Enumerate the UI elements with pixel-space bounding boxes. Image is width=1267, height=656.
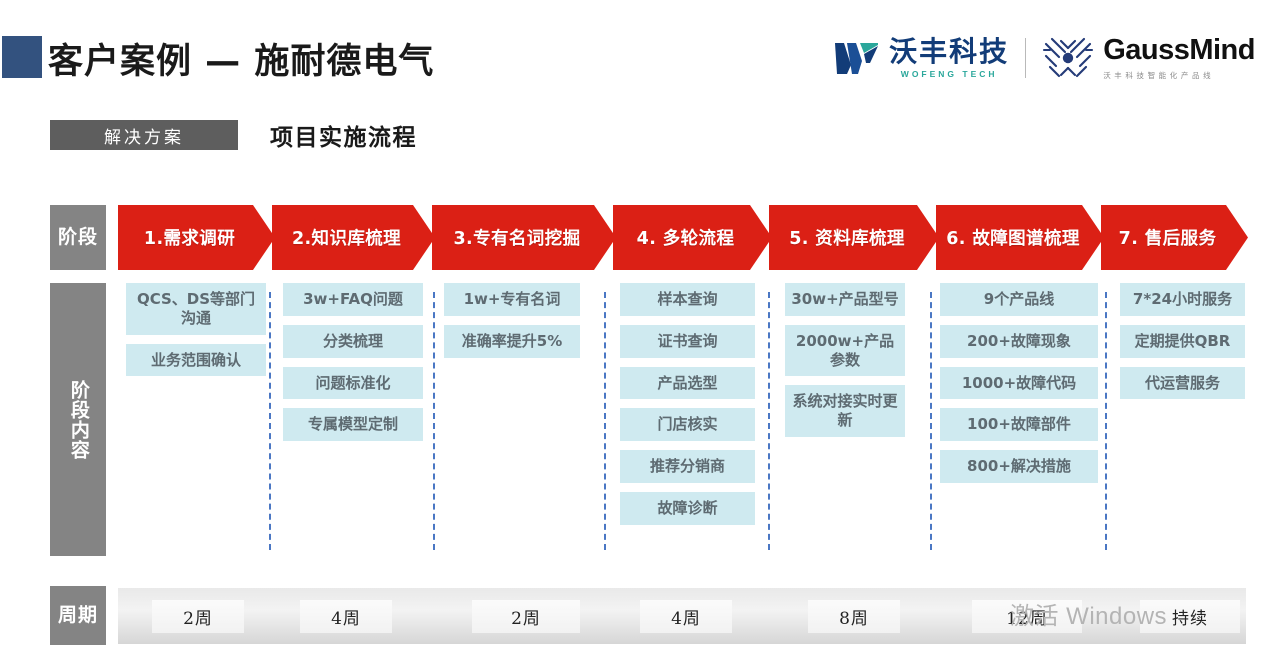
stage-arrow-label: 7. 售后服务	[1119, 225, 1217, 250]
stage-arrow-1[interactable]: 1.需求调研	[118, 205, 275, 270]
period-cell-2: 4周	[300, 600, 392, 633]
column-separator-1	[269, 292, 271, 550]
content-chip[interactable]: 代运营服务	[1120, 367, 1245, 400]
stage-arrow-3[interactable]: 3.专有名词挖掘	[432, 205, 616, 270]
stage-arrow-4[interactable]: 4. 多轮流程	[613, 205, 772, 270]
content-chip[interactable]: 定期提供QBR	[1120, 325, 1245, 358]
stage-arrow-6[interactable]: 6. 故障图谱梳理	[936, 205, 1104, 270]
stage-content-column-4: 样本查询证书查询产品选型门店核实推荐分销商故障诊断	[620, 283, 755, 525]
content-chip[interactable]: 7*24小时服务	[1120, 283, 1245, 316]
content-chip[interactable]: 9个产品线	[940, 283, 1098, 316]
content-chip[interactable]: 200+故障现象	[940, 325, 1098, 358]
stage-arrow-5[interactable]: 5. 资料库梳理	[769, 205, 939, 270]
stage-content-column-6: 9个产品线200+故障现象1000+故障代码100+故障部件800+解决措施	[940, 283, 1098, 483]
column-separator-3	[604, 292, 606, 550]
column-separator-4	[768, 292, 770, 550]
stage-arrow-label: 3.专有名词挖掘	[453, 225, 580, 250]
row-label-content: 阶段内容	[50, 283, 106, 556]
stage-arrow-label: 6. 故障图谱梳理	[946, 225, 1080, 250]
column-separator-6	[1105, 292, 1107, 550]
stage-content-column-1: QCS、DS等部门沟通业务范围确认	[126, 283, 266, 376]
content-chip[interactable]: 系统对接实时更新	[785, 385, 905, 437]
content-chip[interactable]: 30w+产品型号	[785, 283, 905, 316]
column-separator-2	[433, 292, 435, 550]
period-cell-4: 4周	[640, 600, 732, 633]
stage-content-column-7: 7*24小时服务定期提供QBR代运营服务	[1120, 283, 1245, 399]
content-chip[interactable]: 问题标准化	[283, 367, 423, 400]
stage-arrow-label: 4. 多轮流程	[637, 225, 735, 250]
process-diagram: 阶段 阶段内容 周期 1.需求调研2.知识库梳理3.专有名词挖掘4. 多轮流程5…	[0, 0, 1267, 656]
stage-content-column-3: 1w+专有名词准确率提升5%	[444, 283, 580, 358]
stage-arrow-label: 5. 资料库梳理	[789, 225, 905, 250]
content-chip[interactable]: 证书查询	[620, 325, 755, 358]
content-chip[interactable]: 分类梳理	[283, 325, 423, 358]
content-chip[interactable]: 产品选型	[620, 367, 755, 400]
period-cell-3: 2周	[472, 600, 580, 633]
content-chip[interactable]: 100+故障部件	[940, 408, 1098, 441]
content-chip[interactable]: 准确率提升5%	[444, 325, 580, 358]
column-separator-5	[930, 292, 932, 550]
stage-arrow-7[interactable]: 7. 售后服务	[1101, 205, 1248, 270]
content-chip[interactable]: 2000w+产品参数	[785, 325, 905, 377]
content-chip[interactable]: QCS、DS等部门沟通	[126, 283, 266, 335]
content-chip[interactable]: 3w+FAQ问题	[283, 283, 423, 316]
period-cell-1: 2周	[152, 600, 244, 633]
stage-arrow-2[interactable]: 2.知识库梳理	[272, 205, 435, 270]
content-chip[interactable]: 专属模型定制	[283, 408, 423, 441]
content-chip[interactable]: 业务范围确认	[126, 344, 266, 377]
period-cell-6: 12周	[972, 600, 1082, 633]
content-chip[interactable]: 样本查询	[620, 283, 755, 316]
stage-content-column-2: 3w+FAQ问题分类梳理问题标准化专属模型定制	[283, 283, 423, 441]
stage-arrow-label: 2.知识库梳理	[292, 225, 401, 250]
stage-content-column-5: 30w+产品型号2000w+产品参数系统对接实时更新	[785, 283, 905, 437]
content-chip[interactable]: 1000+故障代码	[940, 367, 1098, 400]
content-chip[interactable]: 800+解决措施	[940, 450, 1098, 483]
period-cell-7: 持续	[1140, 600, 1240, 633]
row-label-period: 周期	[50, 586, 106, 645]
row-label-stage: 阶段	[50, 205, 106, 270]
content-chip[interactable]: 推荐分销商	[620, 450, 755, 483]
stage-arrow-label: 1.需求调研	[144, 225, 235, 250]
period-cell-5: 8周	[808, 600, 900, 633]
content-chip[interactable]: 故障诊断	[620, 492, 755, 525]
content-chip[interactable]: 1w+专有名词	[444, 283, 580, 316]
content-chip[interactable]: 门店核实	[620, 408, 755, 441]
